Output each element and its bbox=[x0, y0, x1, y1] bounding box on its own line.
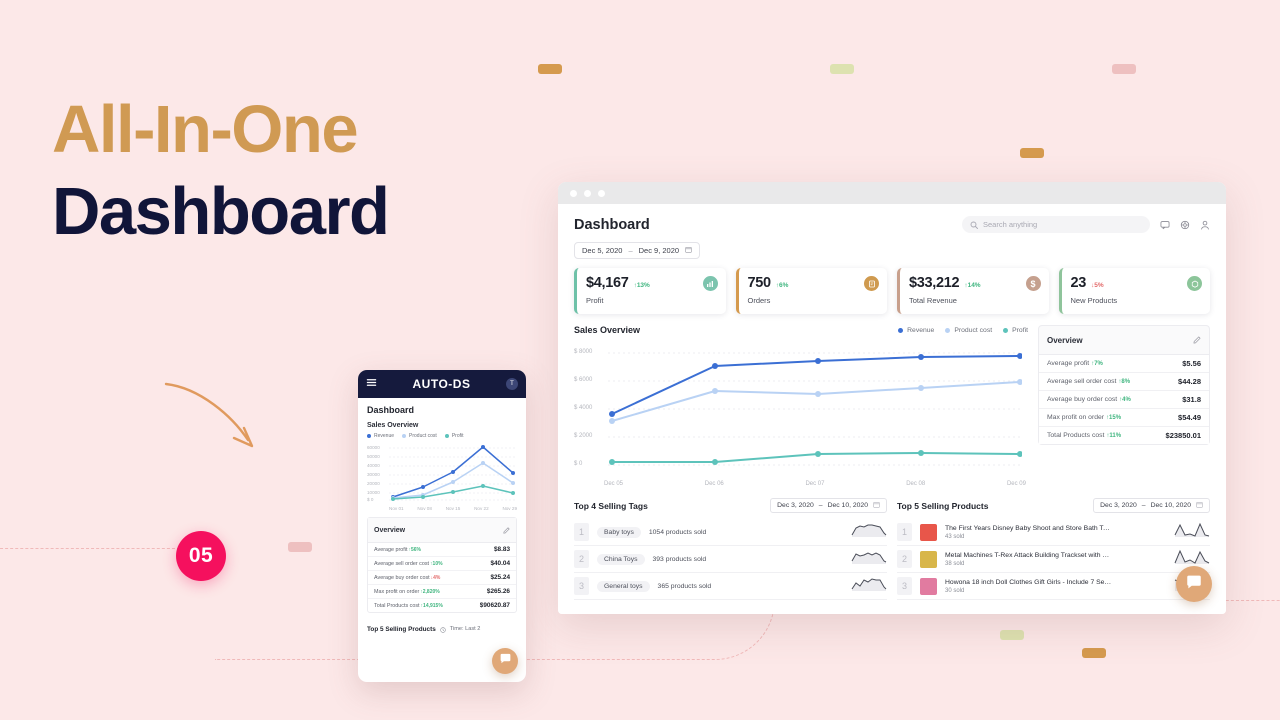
overview-row-delta: ↑14,915% bbox=[421, 603, 443, 609]
window-maximize-dot[interactable] bbox=[598, 190, 605, 197]
chat-bubble-icon bbox=[499, 652, 512, 670]
product-thumbnail bbox=[920, 524, 937, 541]
dashboard-header: Dashboard Search anything bbox=[574, 216, 1210, 233]
date-range-end: Dec 10, 2020 bbox=[1151, 502, 1191, 509]
dashed-line-left bbox=[0, 548, 180, 549]
tag-sold-count: 365 products sold bbox=[658, 583, 712, 590]
overview-row-value: $90620.87 bbox=[480, 602, 510, 609]
table-row[interactable]: 1 The First Years Disney Baby Shoot and … bbox=[897, 519, 1210, 546]
overview-row-delta: ↑15% bbox=[1106, 415, 1121, 421]
browser-titlebar bbox=[558, 182, 1226, 204]
overview-row: Average buy order cost↓4% $25.24 bbox=[368, 571, 516, 585]
overview-row-delta: ↓4% bbox=[431, 575, 441, 581]
dashboard-body: Dashboard Search anything bbox=[558, 204, 1226, 614]
date-range-separator: – bbox=[628, 246, 632, 255]
legend-item-product-cost[interactable]: Product cost bbox=[402, 433, 437, 439]
table-row[interactable]: 1 Baby toys 1054 products sold bbox=[574, 519, 887, 546]
table-row[interactable]: 3 General toys 365 products sold bbox=[574, 573, 887, 600]
sparkline-chart bbox=[851, 549, 887, 570]
kpi-delta: ↑13% bbox=[634, 282, 650, 289]
date-range-picker[interactable]: Dec 5, 2020 – Dec 9, 2020 bbox=[574, 242, 700, 259]
sales-overview-section: Sales Overview Revenue Product cost Prof… bbox=[574, 325, 1210, 487]
sales-overview-title: Sales Overview bbox=[574, 325, 640, 335]
calendar-icon bbox=[873, 501, 880, 510]
table-row[interactable]: 2 China Toys 393 products sold bbox=[574, 546, 887, 573]
date-range-start: Dec 3, 2020 bbox=[777, 502, 814, 509]
legend-label: Product cost bbox=[954, 327, 992, 334]
overview-row-value: $54.49 bbox=[1178, 413, 1201, 422]
y-tick-label: 10000 bbox=[367, 490, 380, 495]
overview-row-value: $265.26 bbox=[487, 588, 510, 595]
legend-item-revenue[interactable]: Revenue bbox=[367, 433, 394, 439]
kpi-card-profit[interactable]: $4,167 ↑13% Profit bbox=[574, 268, 726, 314]
overview-row-value: $40.04 bbox=[490, 560, 510, 567]
kpi-label: Orders bbox=[748, 296, 879, 305]
y-tick-label: $ 8000 bbox=[574, 349, 592, 355]
overview-row-value: $31.8 bbox=[1182, 395, 1201, 404]
top-selling-products-panel: Top 5 Selling Products Dec 3, 2020 – Dec… bbox=[897, 498, 1210, 600]
date-range-end: Dec 9, 2020 bbox=[639, 246, 679, 255]
overview-row-label: Average buy order cost bbox=[1047, 396, 1117, 403]
chat-bubble-icon bbox=[1185, 573, 1203, 596]
confetti-green-2 bbox=[1000, 630, 1024, 640]
receipt-icon bbox=[864, 276, 879, 291]
y-tick-label: $ 0 bbox=[367, 497, 373, 502]
tag-sold-count: 1054 products sold bbox=[649, 529, 706, 536]
legend-item-profit[interactable]: Profit bbox=[1003, 327, 1028, 334]
overview-row-value: $25.24 bbox=[490, 574, 510, 581]
overview-row-value: $8.83 bbox=[494, 546, 510, 553]
y-tick-label: 50000 bbox=[367, 454, 380, 459]
mobile-chat-support-button[interactable] bbox=[492, 648, 518, 674]
top-tags-date-range[interactable]: Dec 3, 2020 – Dec 10, 2020 bbox=[770, 498, 887, 513]
mobile-chart-legend: Revenue Product cost Profit bbox=[367, 433, 517, 439]
table-row[interactable]: 2 Metal Machines T-Rex Attack Building T… bbox=[897, 546, 1210, 573]
gear-icon[interactable] bbox=[1180, 220, 1190, 230]
date-range-start: Dec 3, 2020 bbox=[1100, 502, 1137, 509]
pencil-icon[interactable] bbox=[503, 521, 510, 539]
date-range-start: Dec 5, 2020 bbox=[582, 246, 622, 255]
y-tick-label: 60000 bbox=[367, 445, 380, 450]
step-number-badge: 05 bbox=[176, 531, 226, 581]
kpi-cards: $4,167 ↑13% Profit 750 ↑6% Orders bbox=[574, 268, 1210, 314]
kpi-value: $4,167 bbox=[586, 275, 629, 291]
top-products-date-range[interactable]: Dec 3, 2020 – Dec 10, 2020 bbox=[1093, 498, 1210, 513]
overview-row-label: Total Products cost bbox=[374, 603, 420, 609]
confetti-orange-1 bbox=[538, 64, 562, 74]
headline-line-1: All-In-One bbox=[52, 96, 572, 164]
overview-row-label: Average sell order cost bbox=[1047, 378, 1116, 385]
sales-chart-svg bbox=[574, 341, 1022, 479]
rank-cell: 3 bbox=[897, 577, 912, 595]
pencil-icon[interactable] bbox=[1193, 331, 1201, 349]
x-tick-label: Dec 06 bbox=[705, 481, 724, 487]
overview-row-label: Total Products cost bbox=[1047, 432, 1104, 439]
confetti-pink-2 bbox=[288, 542, 312, 552]
x-tick-label: Nov 29 bbox=[502, 506, 517, 511]
confetti-green-1 bbox=[830, 64, 854, 74]
tag-name: Baby toys bbox=[597, 527, 641, 538]
overview-row: Average sell order cost↑8% $44.28 bbox=[1039, 373, 1209, 391]
product-thumbnail bbox=[920, 551, 937, 568]
mobile-overview-panel: Overview Average profit↑56% $8.83 Averag… bbox=[367, 517, 517, 613]
overview-row-delta: ↑2,820% bbox=[420, 589, 439, 595]
search-input[interactable]: Search anything bbox=[962, 216, 1150, 233]
overview-row-value: $5.56 bbox=[1182, 359, 1201, 368]
overview-row-delta: ↑8% bbox=[1118, 379, 1130, 385]
y-tick-label: $ 6000 bbox=[574, 377, 592, 383]
sales-chart-block: Sales Overview Revenue Product cost Prof… bbox=[574, 325, 1028, 487]
overview-row: Average sell order cost↑10% $40.04 bbox=[368, 557, 516, 571]
overview-row-value: $23850.01 bbox=[1166, 431, 1201, 440]
tag-name: General toys bbox=[597, 581, 650, 592]
legend-label: Revenue bbox=[907, 327, 934, 334]
headline-line-2: Dashboard bbox=[52, 178, 572, 246]
overview-row-delta: ↑7% bbox=[1091, 361, 1103, 367]
overview-title: Overview bbox=[374, 527, 405, 534]
overview-title: Overview bbox=[1047, 336, 1083, 345]
window-minimize-dot[interactable] bbox=[584, 190, 591, 197]
top-selling-tags-panel: Top 4 Selling Tags Dec 3, 2020 – Dec 10,… bbox=[574, 498, 887, 600]
x-tick-label: Nov 01 bbox=[389, 506, 404, 511]
date-range-end: Dec 10, 2020 bbox=[828, 502, 868, 509]
page-title: Dashboard bbox=[574, 217, 650, 233]
box-icon bbox=[1187, 276, 1202, 291]
sparkline-chart bbox=[851, 522, 887, 543]
overview-row: Total Products cost↑11% $23850.01 bbox=[1039, 427, 1209, 444]
kpi-card-total-revenue[interactable]: $33,212 ↑14% Total Revenue $ bbox=[897, 268, 1049, 314]
tag-sold-count: 393 products sold bbox=[653, 556, 707, 563]
window-close-dot[interactable] bbox=[570, 190, 577, 197]
mobile-top-products-header: Top 5 Selling Products Time: Last 2 bbox=[367, 620, 517, 638]
product-name: Metal Machines T-Rex Attack Building Tra… bbox=[945, 552, 1113, 559]
kpi-value: 750 bbox=[748, 275, 771, 291]
mobile-line-chart: 60000 50000 40000 30000 20000 10000 $ 0 bbox=[367, 443, 517, 505]
product-sold-count: 30 sold bbox=[945, 588, 1113, 594]
overview-row: Average profit↑56% $8.83 bbox=[368, 543, 516, 557]
y-tick-label: 30000 bbox=[367, 472, 380, 477]
chat-icon[interactable] bbox=[1160, 220, 1170, 230]
product-name: The First Years Disney Baby Shoot and St… bbox=[945, 525, 1113, 532]
desktop-browser-mockup: Dashboard Search anything bbox=[558, 182, 1226, 614]
legend-item-revenue[interactable]: Revenue bbox=[898, 327, 934, 334]
chat-support-button[interactable] bbox=[1176, 566, 1212, 602]
calendar-icon bbox=[685, 246, 692, 255]
kpi-value: $33,212 bbox=[909, 275, 959, 291]
rank-cell: 3 bbox=[574, 577, 589, 595]
mobile-chart-svg bbox=[367, 443, 517, 505]
y-tick-label: $ 4000 bbox=[574, 405, 592, 411]
top-tags-header: Top 4 Selling Tags Dec 3, 2020 – Dec 10,… bbox=[574, 498, 887, 513]
overview-row-value: $44.28 bbox=[1178, 377, 1201, 386]
legend-label: Revenue bbox=[374, 433, 394, 439]
overview-row-delta: ↑56% bbox=[408, 547, 421, 553]
date-range-separator: – bbox=[1142, 502, 1146, 509]
overview-row-delta: ↑11% bbox=[1106, 433, 1121, 439]
overview-row-label: Average profit bbox=[1047, 360, 1089, 367]
sales-chart-header: Sales Overview Revenue Product cost Prof… bbox=[574, 325, 1028, 335]
rank-cell: 1 bbox=[897, 523, 912, 541]
date-range-separator: – bbox=[819, 502, 823, 509]
overview-panel-header: Overview bbox=[1039, 326, 1209, 355]
y-tick-label: 40000 bbox=[367, 463, 380, 468]
dollar-icon: $ bbox=[1026, 276, 1041, 291]
rank-cell: 2 bbox=[897, 550, 912, 568]
overview-row-label: Max profit on order bbox=[374, 589, 419, 595]
mobile-sales-overview-title: Sales Overview bbox=[367, 422, 517, 429]
product-sold-count: 38 sold bbox=[945, 561, 1113, 567]
mobile-x-axis-labels: Nov 01 Nov 08 Nov 15 Nov 22 Nov 29 bbox=[367, 506, 517, 511]
mobile-app-mockup: AUTO-DS T Dashboard Sales Overview Reven… bbox=[358, 370, 526, 682]
product-name: Howona 18 inch Doll Clothes Gift Girls -… bbox=[945, 579, 1113, 586]
legend-label: Profit bbox=[1012, 327, 1028, 334]
mobile-topbar: AUTO-DS T bbox=[358, 370, 526, 398]
sparkline-chart bbox=[1174, 522, 1210, 543]
kpi-delta: ↑6% bbox=[776, 282, 789, 289]
x-tick-label: Dec 05 bbox=[604, 481, 623, 487]
sales-line-chart: $ 8000 $ 6000 $ 4000 $ 2000 $ 0 bbox=[574, 341, 1028, 479]
kpi-card-orders[interactable]: 750 ↑6% Orders bbox=[736, 268, 888, 314]
mobile-overview-header: Overview bbox=[368, 518, 516, 543]
search-icon bbox=[970, 216, 978, 234]
y-tick-label: $ 0 bbox=[574, 461, 582, 467]
top-products-title: Top 5 Selling Products bbox=[897, 501, 988, 511]
confetti-orange-3 bbox=[1082, 648, 1106, 658]
product-thumbnail bbox=[920, 578, 937, 595]
kpi-delta: ↓5% bbox=[1091, 282, 1104, 289]
kpi-value: 23 bbox=[1071, 275, 1087, 291]
mobile-page-title: Dashboard bbox=[367, 405, 517, 415]
overview-row: Average profit↑7% $5.56 bbox=[1039, 355, 1209, 373]
x-tick-label: Nov 22 bbox=[474, 506, 489, 511]
tag-name: China Toys bbox=[597, 554, 645, 565]
headline: All-In-One Dashboard bbox=[52, 96, 572, 247]
kpi-delta: ↑14% bbox=[964, 282, 980, 289]
overview-row: Max profit on order↑15% $54.49 bbox=[1039, 409, 1209, 427]
product-sold-count: 43 sold bbox=[945, 534, 1113, 540]
user-icon[interactable] bbox=[1200, 220, 1210, 230]
overview-row-label: Average sell order cost bbox=[374, 561, 429, 567]
x-tick-label: Nov 08 bbox=[417, 506, 432, 511]
kpi-label: New Products bbox=[1071, 296, 1202, 305]
top-products-header: Top 5 Selling Products Dec 3, 2020 – Dec… bbox=[897, 498, 1210, 513]
rank-cell: 2 bbox=[574, 550, 589, 568]
overview-panel: Overview Average profit↑7% $5.56 Average… bbox=[1038, 325, 1210, 445]
bar-chart-icon bbox=[703, 276, 718, 291]
legend-item-profit[interactable]: Profit bbox=[445, 433, 464, 439]
overview-row-delta: ↑10% bbox=[430, 561, 443, 567]
y-tick-label: $ 2000 bbox=[574, 433, 592, 439]
kpi-label: Total Revenue bbox=[909, 296, 1040, 305]
x-tick-label: Dec 08 bbox=[906, 481, 925, 487]
x-axis-labels: Dec 05 Dec 06 Dec 07 Dec 08 Dec 09 bbox=[574, 481, 1028, 487]
y-tick-label: 20000 bbox=[367, 481, 380, 486]
sparkline-chart bbox=[851, 576, 887, 597]
confetti-pink-1 bbox=[1112, 64, 1136, 74]
bottom-panels: Top 4 Selling Tags Dec 3, 2020 – Dec 10,… bbox=[574, 498, 1210, 600]
mobile-body: Dashboard Sales Overview Revenue Product… bbox=[358, 398, 526, 645]
overview-row: Average buy order cost↑4% $31.8 bbox=[1039, 391, 1209, 409]
x-tick-label: Dec 09 bbox=[1007, 481, 1026, 487]
mobile-time-filter[interactable]: Time: Last 2 bbox=[450, 626, 481, 632]
overview-row: Max profit on order↑2,820% $265.26 bbox=[368, 585, 516, 599]
kpi-card-new-products[interactable]: 23 ↓5% New Products bbox=[1059, 268, 1211, 314]
curved-arrow-icon bbox=[160, 378, 280, 473]
confetti-orange-2 bbox=[1020, 148, 1044, 158]
overview-row-label: Max profit on order bbox=[1047, 414, 1104, 421]
kpi-label: Profit bbox=[586, 296, 717, 305]
legend-label: Product cost bbox=[409, 433, 437, 439]
table-row[interactable]: 3 Howona 18 inch Doll Clothes Gift Girls… bbox=[897, 573, 1210, 600]
hamburger-icon[interactable] bbox=[366, 375, 377, 393]
chart-legend: Revenue Product cost Profit bbox=[898, 327, 1028, 334]
search-placeholder: Search anything bbox=[983, 220, 1037, 229]
legend-label: Profit bbox=[452, 433, 464, 439]
overview-row-delta: ↑4% bbox=[1119, 397, 1131, 403]
top-tags-title: Top 4 Selling Tags bbox=[574, 501, 648, 511]
app-logo: AUTO-DS bbox=[413, 377, 471, 391]
overview-row-label: Average profit bbox=[374, 547, 407, 553]
calendar-icon bbox=[1196, 501, 1203, 510]
avatar[interactable]: T bbox=[506, 378, 518, 390]
header-actions: Search anything bbox=[962, 216, 1210, 233]
mobile-top-products-title: Top 5 Selling Products bbox=[367, 626, 436, 633]
overview-row-label: Average buy order cost bbox=[374, 575, 430, 581]
overview-row: Total Products cost↑14,915% $90620.87 bbox=[368, 599, 516, 612]
legend-item-product-cost[interactable]: Product cost bbox=[945, 327, 992, 334]
x-tick-label: Dec 07 bbox=[805, 481, 824, 487]
clock-icon bbox=[440, 620, 446, 638]
x-tick-label: Nov 15 bbox=[446, 506, 461, 511]
rank-cell: 1 bbox=[574, 523, 589, 541]
